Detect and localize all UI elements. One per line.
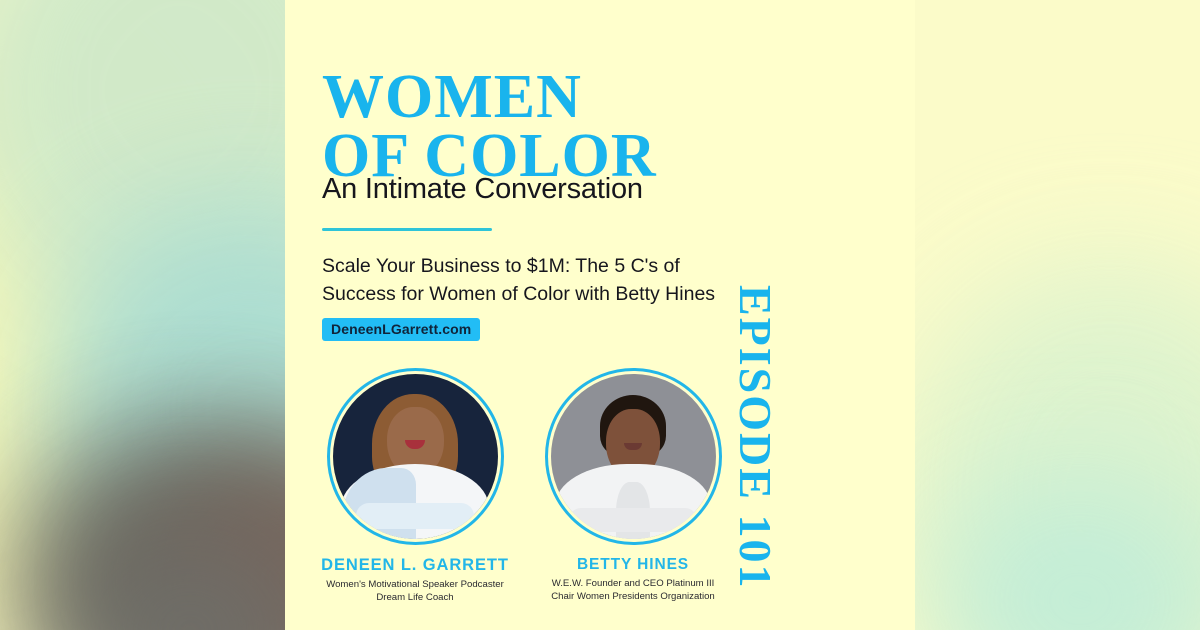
podcast-cover: WOMEN OF COLOR An Intimate Conversation … [0, 0, 1200, 630]
show-title-line-1: WOMEN [322, 63, 582, 131]
speaker-list: DENEEN L. GARRETT Women's Motivational S… [315, 368, 735, 605]
content-panel: WOMEN OF COLOR An Intimate Conversation … [285, 0, 915, 630]
show-subtitle: An Intimate Conversation [322, 173, 882, 206]
speaker-role-line-1: Women's Motivational Speaker Podcaster [315, 579, 515, 592]
betty-hines-portrait [551, 374, 716, 539]
avatar-ring [327, 368, 504, 545]
portrait-arms [569, 508, 697, 532]
website-badge[interactable]: DeneenLGarrett.com [322, 318, 480, 341]
show-title: WOMEN OF COLOR [322, 68, 882, 187]
episode-title: Scale Your Business to $1M: The 5 C's of… [322, 253, 742, 308]
speaker-card: DENEEN L. GARRETT Women's Motivational S… [315, 368, 515, 605]
speaker-role-line-1: W.E.W. Founder and CEO Platinum III [533, 578, 733, 591]
speaker-role: W.E.W. Founder and CEO Platinum III Chai… [533, 578, 733, 604]
speaker-name: DENEEN L. GARRETT [315, 556, 515, 575]
divider-rule [322, 228, 492, 231]
avatar-ring [545, 368, 722, 545]
portrait-arms [356, 503, 474, 529]
speaker-card: BETTY HINES W.E.W. Founder and CEO Plati… [533, 368, 733, 605]
episode-number-vertical: EPISODE 101 [729, 285, 782, 589]
speaker-role-line-2: Chair Women Presidents Organization [533, 591, 733, 604]
speaker-role: Women's Motivational Speaker Podcaster D… [315, 579, 515, 605]
speaker-name: BETTY HINES [533, 556, 733, 574]
speaker-role-line-2: Dream Life Coach [315, 592, 515, 605]
deneen-garrett-portrait [333, 374, 498, 539]
